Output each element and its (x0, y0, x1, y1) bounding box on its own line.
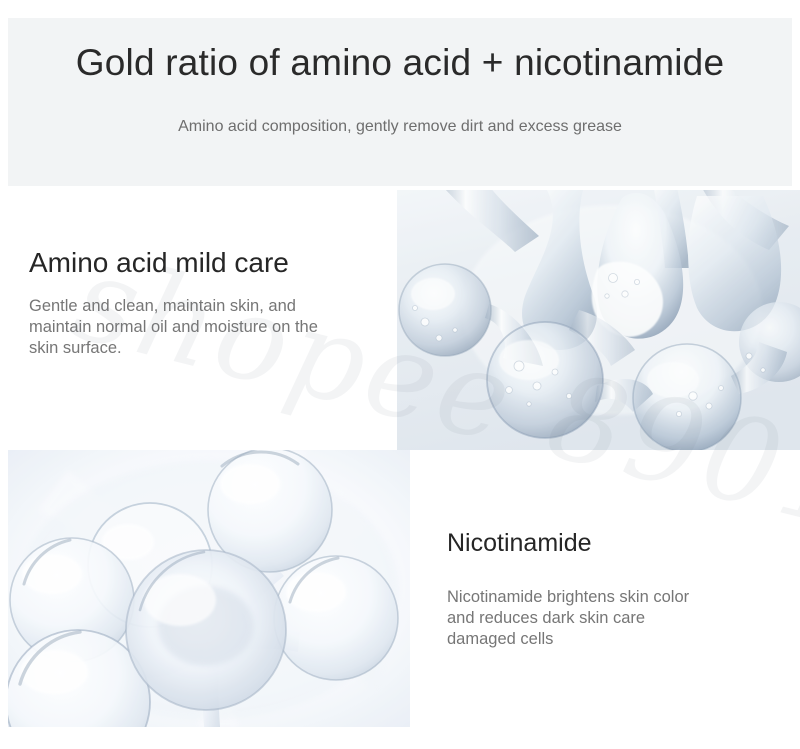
section-body-amino-acid: Gentle and clean, maintain skin, and mai… (29, 296, 345, 359)
product-detail-page: Gold ratio of amino acid + nicotinamide … (0, 0, 800, 749)
section-body-nicotinamide: Nicotinamide brightens skin color and re… (447, 587, 712, 650)
header-banner: Gold ratio of amino acid + nicotinamide … (8, 18, 792, 186)
bubble-molecule-illustration (8, 450, 410, 727)
section-heading-amino-acid: Amino acid mild care (29, 245, 379, 281)
section-amino-acid: Amino acid mild care Gentle and clean, m… (29, 245, 379, 359)
page-title: Gold ratio of amino acid + nicotinamide (8, 42, 792, 84)
water-molecule-illustration (397, 190, 800, 450)
section-nicotinamide: Nicotinamide Nicotinamide brightens skin… (447, 527, 767, 650)
water-molecule-image (397, 190, 800, 450)
bubble-molecule-image (8, 450, 410, 727)
page-subtitle: Amino acid composition, gently remove di… (8, 118, 792, 136)
section-heading-nicotinamide: Nicotinamide (447, 527, 767, 560)
